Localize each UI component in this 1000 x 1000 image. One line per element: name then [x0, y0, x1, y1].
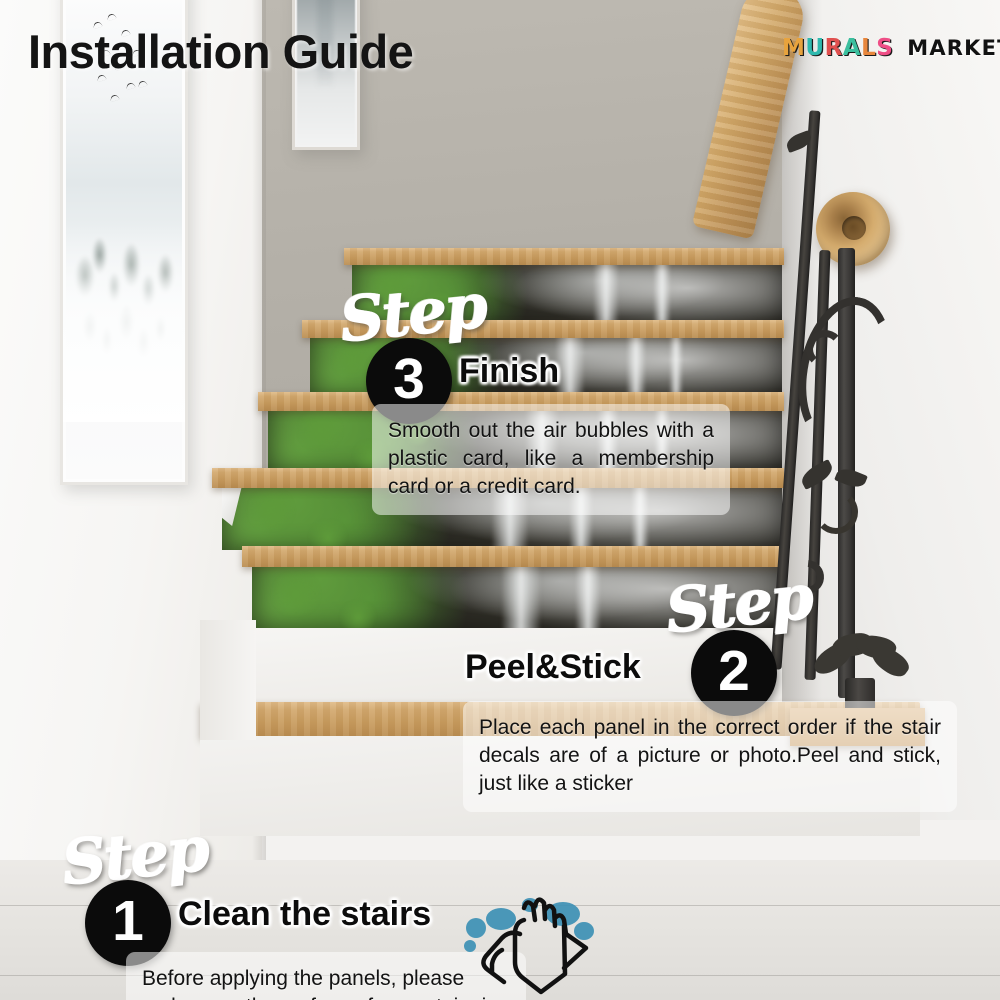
landing-side-wall: [200, 620, 256, 740]
logo-murals: MURALS: [782, 34, 900, 60]
logo-letter: A: [843, 37, 861, 60]
iron-scroll: [814, 490, 858, 534]
step-3-heading: Finish: [459, 352, 559, 391]
volute-core: [842, 216, 866, 240]
step-2-description: Place each panel in the correct order if…: [463, 701, 957, 812]
logo-letter: S: [876, 37, 893, 60]
stair-tread-1: [242, 546, 784, 567]
page-title: Installation Guide: [28, 24, 413, 79]
logo-letter: U: [805, 37, 824, 60]
stair-tread-5: [344, 248, 784, 265]
hands-outline-icon: [462, 892, 594, 1000]
step-2-heading: Peel&Stick: [465, 648, 641, 687]
hand-washing-icon: [462, 892, 594, 1000]
step-3-description: Smooth out the air bubbles with a plasti…: [372, 404, 730, 515]
installation-guide-image: Installation Guide MURALS MARKET Step 3 …: [0, 0, 1000, 1000]
logo-letter: M: [782, 37, 805, 60]
brand-logo: MURALS MARKET: [782, 34, 1000, 61]
fog-layer: [63, 223, 185, 423]
step-1-heading: Clean the stairs: [178, 895, 431, 934]
logo-letter: L: [861, 37, 876, 60]
logo-letter: R: [825, 37, 843, 60]
logo-market: MARKET: [907, 36, 1000, 60]
iron-scroll: [806, 330, 844, 368]
